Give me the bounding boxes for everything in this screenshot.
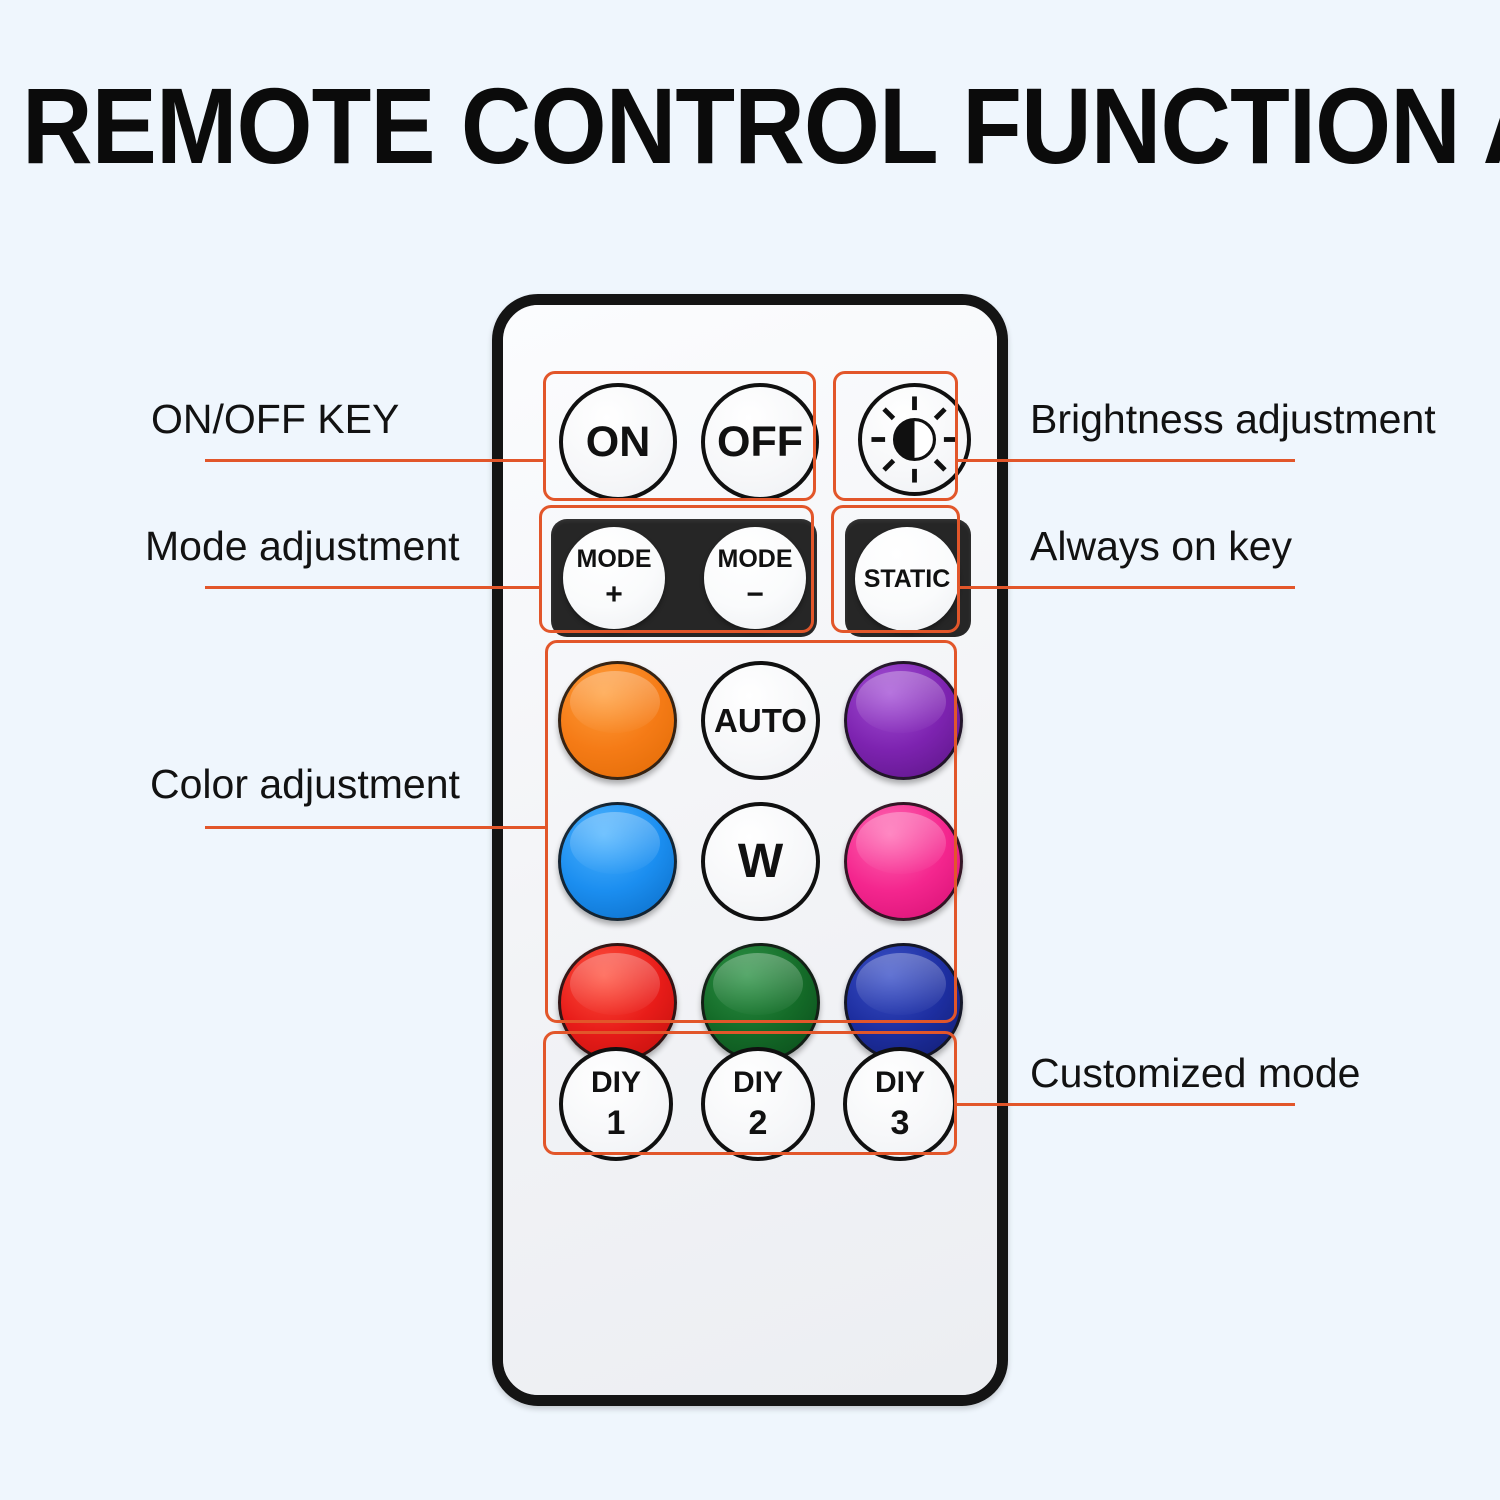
callout-label-static: Always on key [1030,523,1292,569]
leader-line-color [205,826,547,829]
leader-line-diy [955,1103,1295,1106]
annotation-box-brightness [833,371,958,501]
leader-line-mode [205,586,541,589]
annotation-box-onoff [543,371,816,501]
annotation-box-diy [543,1031,957,1155]
leader-line-onoff [205,459,545,462]
callout-label-onoff: ON/OFF KEY [151,396,399,442]
callout-label-diy: Customized mode [1030,1050,1360,1096]
annotation-box-mode [539,505,814,633]
annotation-box-static [831,505,960,633]
annotation-box-color [545,640,957,1023]
callout-label-mode: Mode adjustment [145,523,460,569]
page-title: REMOTE CONTROL FUNCTION ANALYSIS: [22,72,1343,182]
leader-line-static [957,586,1295,589]
callout-label-brightness: Brightness adjustment [1030,396,1436,442]
callout-label-color: Color adjustment [150,761,460,807]
leader-line-brightness [955,459,1295,462]
